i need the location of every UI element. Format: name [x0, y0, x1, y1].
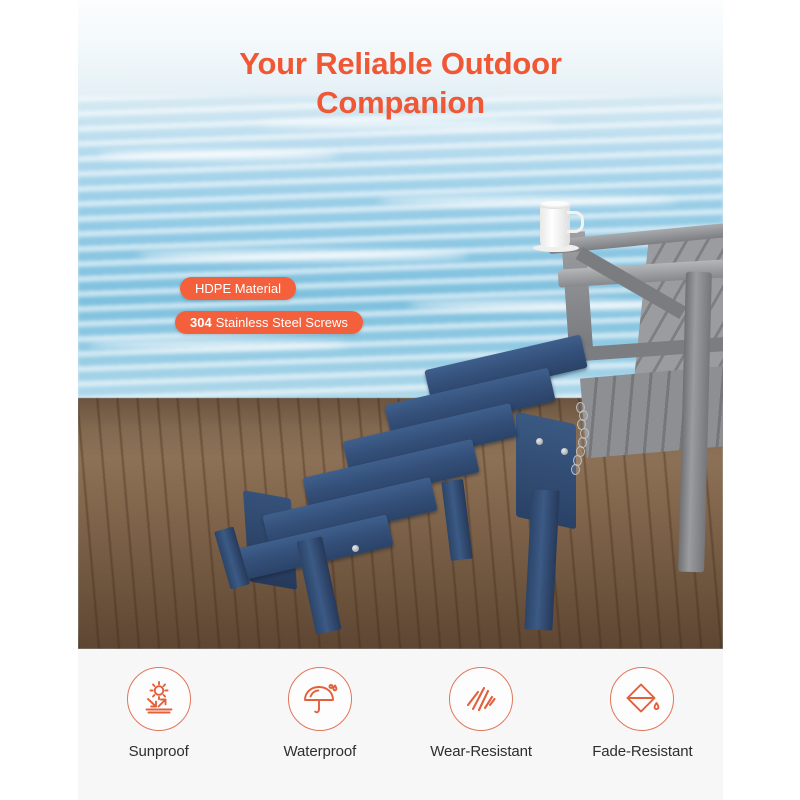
feature-sunproof: Sunproof — [84, 667, 234, 760]
badge-screws-number: 304 — [190, 315, 212, 330]
mug-handle — [567, 211, 584, 233]
mug-rim — [539, 201, 571, 209]
stainless-screw — [561, 448, 568, 455]
feature-label: Waterproof — [245, 743, 395, 760]
headline-line-1: Your Reliable Outdoor — [78, 44, 723, 83]
feature-wear-resistant: Wear-Resistant — [406, 667, 556, 760]
ottoman-leg — [524, 489, 559, 630]
water-highlight — [378, 196, 678, 205]
feature-label: Sunproof — [84, 743, 234, 760]
navy-ottoman — [228, 340, 648, 630]
feature-bar: Sunproof Waterproof — [78, 649, 723, 800]
headline-line-2: Companion — [78, 83, 723, 122]
badge-hdpe-text: HDPE Material — [195, 281, 281, 296]
wear-resistant-icon — [449, 667, 513, 731]
product-photo: Your Reliable Outdoor Companion HDPE Mat… — [78, 0, 723, 649]
stainless-screw — [536, 438, 543, 445]
feature-waterproof: Waterproof — [245, 667, 395, 760]
feature-label: Fade-Resistant — [567, 743, 717, 760]
water-highlight — [138, 250, 468, 261]
page-headline: Your Reliable Outdoor Companion — [78, 44, 723, 123]
ottoman-leg — [441, 479, 473, 561]
badge-hdpe-material: HDPE Material — [180, 277, 296, 300]
stainless-screw — [352, 545, 359, 552]
product-marketing-image: Your Reliable Outdoor Companion HDPE Mat… — [0, 0, 800, 800]
waterproof-icon — [288, 667, 352, 731]
feature-label: Wear-Resistant — [406, 743, 556, 760]
badge-stainless-screws: 304Stainless Steel Screws — [175, 311, 363, 334]
sunproof-icon — [127, 667, 191, 731]
mug-body — [540, 203, 570, 247]
fade-resistant-icon — [610, 667, 674, 731]
feature-fade-resistant: Fade-Resistant — [567, 667, 717, 760]
water-highlight — [98, 150, 338, 160]
badge-screws-text: Stainless Steel Screws — [216, 315, 348, 330]
